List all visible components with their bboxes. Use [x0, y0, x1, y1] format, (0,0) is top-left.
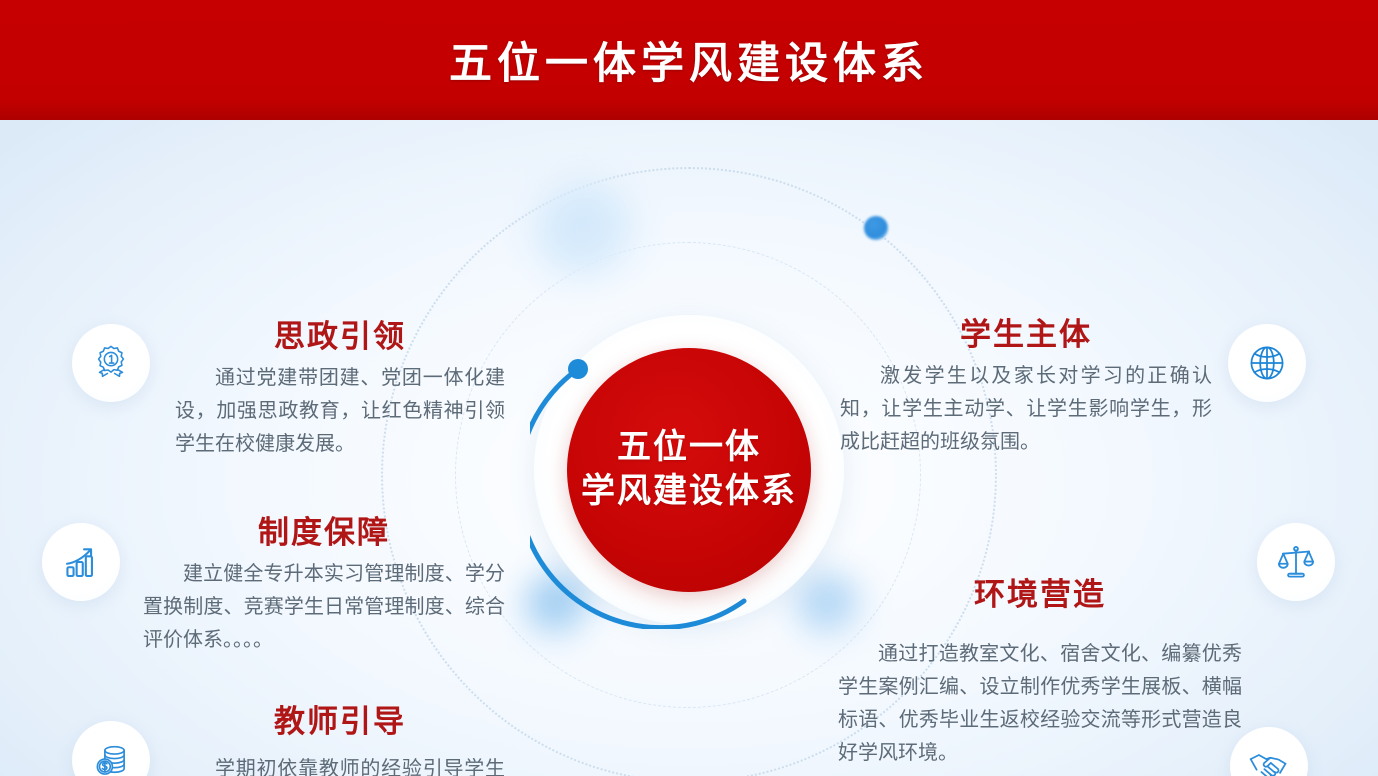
scales-icon	[1257, 523, 1335, 601]
content-block-zhidu: 制度保障 建立健全专升本实习管理制度、学分置换制度、竞赛学生日常管理制度、综合评…	[143, 516, 505, 657]
decorative-blob-top	[532, 180, 640, 288]
block-body: 建立健全专升本实习管理制度、学分置换制度、竞赛学生日常管理制度、综合评价体系。。…	[143, 558, 505, 657]
growth-chart-icon	[42, 523, 120, 601]
block-title: 学生主体	[840, 318, 1212, 352]
coins-icon	[72, 721, 150, 776]
block-body: 通过党建带团建、党团一体化建设，加强思政教育，让红色精神引领学生在校健康发展。	[175, 362, 505, 461]
header-band: 五位一体学风建设体系	[0, 0, 1378, 120]
center-title-line1: 五位一体	[617, 426, 761, 470]
block-body: 通过打造教室文化、宿舍文化、编纂优秀学生案例汇编、设立制作优秀学生展板、横幅标语…	[838, 638, 1242, 770]
block-title: 制度保障	[143, 516, 505, 550]
center-graphic: 五位一体 学风建设体系	[534, 315, 844, 625]
center-red-disc: 五位一体 学风建设体系	[567, 348, 811, 592]
content-block-sizheng: 思政引领 通过党建带团建、党团一体化建设，加强思政教育，让红色精神引领学生在校健…	[175, 320, 505, 461]
decorative-dot-blue	[864, 216, 888, 240]
block-title: 环境营造	[838, 578, 1242, 612]
content-block-xuesheng: 学生主体 激发学生以及家长对学习的正确认知，让学生主动学、让学生影响学生，形成比…	[840, 318, 1212, 459]
content-block-huanjing: 环境营造 通过打造教室文化、宿舍文化、编纂优秀学生案例汇编、设立制作优秀学生展板…	[838, 578, 1242, 770]
award-ribbon-icon	[72, 324, 150, 402]
block-body: 学期初依靠教师的经验引导学生进行学业规划，创新创业指导，让学生尽快走出迷茫期，树…	[175, 753, 505, 776]
center-title-line2: 学风建设体系	[581, 470, 797, 514]
infographic-slide: 五位一体学风建设体系 五位一体 学风建设体系 思政引领 通过党建带团建、党团一体…	[0, 0, 1378, 776]
content-block-jiaoshi: 教师引导 学期初依靠教师的经验引导学生进行学业规划，创新创业指导，让学生尽快走出…	[175, 705, 505, 776]
content-area: 五位一体 学风建设体系 思政引领 通过党建带团建、党团一体化建设，加强思政教育，…	[0, 120, 1378, 776]
block-body: 激发学生以及家长对学习的正确认知，让学生主动学、让学生影响学生，形成比赶超的班级…	[840, 360, 1212, 459]
block-title: 思政引领	[175, 320, 505, 354]
block-title: 教师引导	[175, 705, 505, 739]
globe-icon	[1228, 324, 1306, 402]
page-title: 五位一体学风建设体系	[449, 29, 929, 91]
